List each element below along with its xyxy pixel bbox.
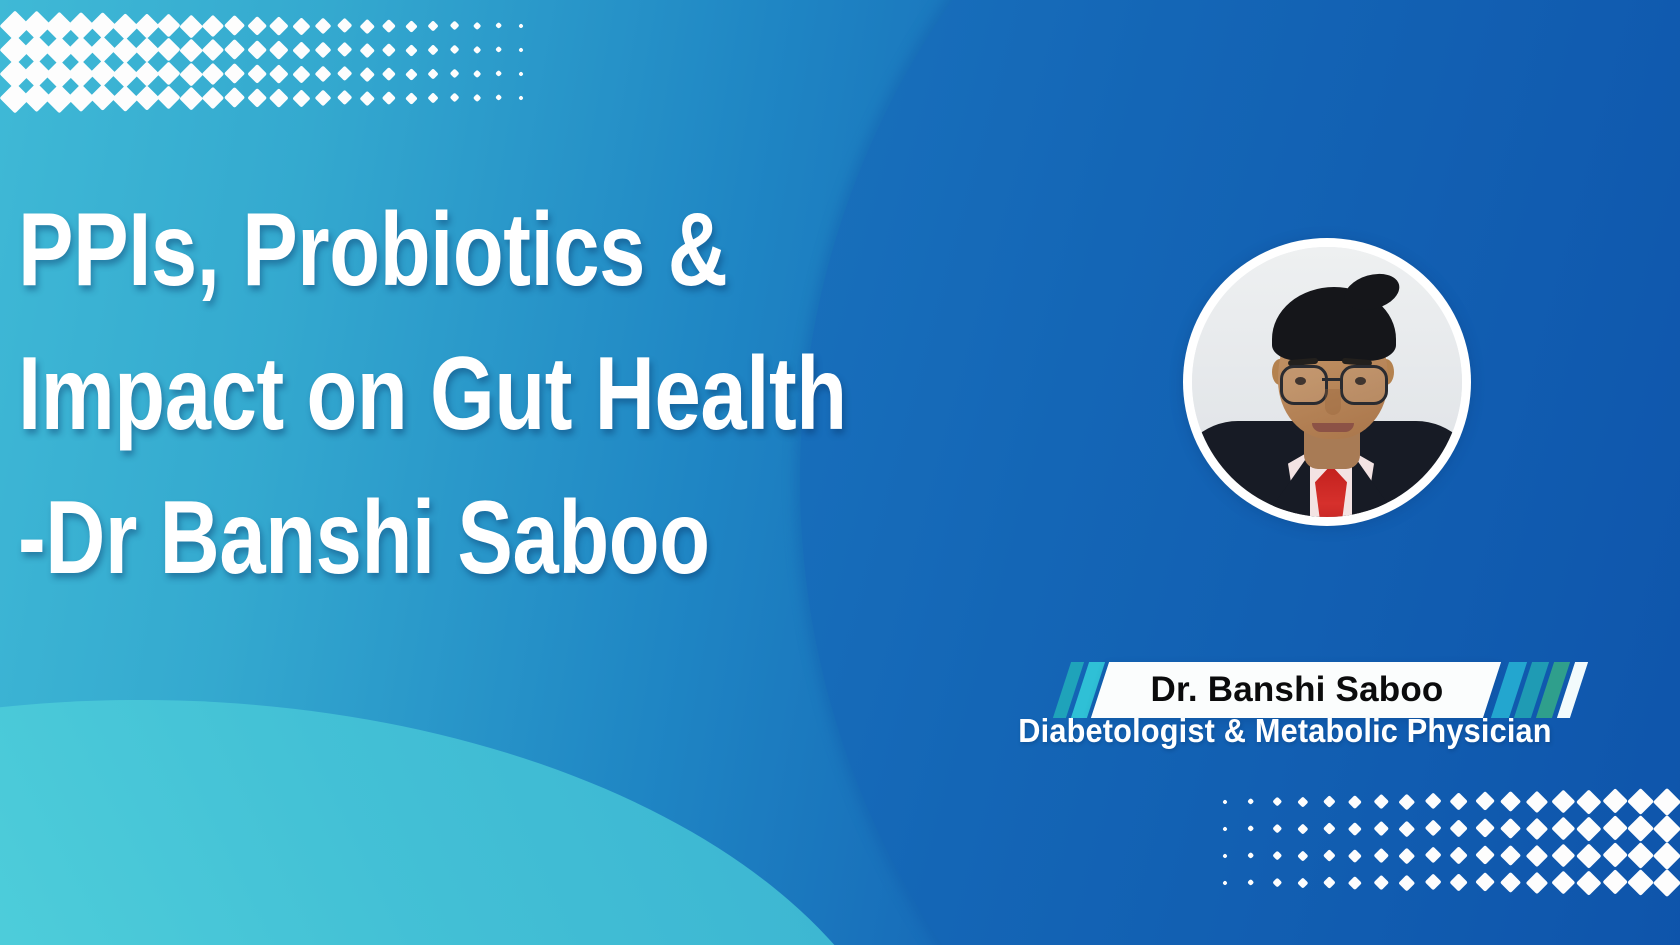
diamond-cell — [378, 38, 400, 62]
diamond-icon — [382, 43, 396, 57]
diamond-icon — [247, 40, 267, 60]
diamond-icon — [1424, 820, 1442, 838]
diamond-cell — [136, 62, 158, 86]
diamond-cell — [466, 86, 488, 110]
diamond-cell — [488, 14, 510, 38]
diamond-icon — [427, 92, 438, 103]
diamond-cell — [1264, 869, 1290, 896]
diamond-icon — [473, 70, 482, 79]
diamond-cell — [268, 14, 290, 38]
diamond-grid-icon-bottom-right — [1212, 788, 1680, 896]
diamond-icon — [1577, 843, 1602, 868]
diamond-icon — [157, 38, 181, 62]
diamond-cell — [1628, 788, 1654, 815]
slide-canvas: PPIs, Probiotics & Impact on Gut Health … — [0, 0, 1680, 945]
diamond-icon — [1653, 841, 1680, 869]
diamond-icon — [1222, 880, 1228, 886]
eyeglasses-lens-right — [1340, 365, 1388, 405]
diamond-icon — [1298, 796, 1309, 807]
diamond-cell — [70, 38, 92, 62]
diamond-icon — [450, 21, 460, 31]
diamond-icon — [382, 91, 396, 105]
diamond-icon — [427, 68, 438, 79]
diamond-cell — [1264, 788, 1290, 815]
diamond-cell — [1654, 842, 1680, 869]
diamond-icon — [1399, 820, 1415, 836]
diamond-cell — [510, 38, 532, 62]
diamond-icon — [247, 64, 267, 84]
diamond-cell — [136, 86, 158, 110]
diamond-icon — [1298, 823, 1309, 834]
diamond-cell — [1602, 815, 1628, 842]
diamond-cell — [400, 86, 422, 110]
diamond-cell — [1394, 815, 1420, 842]
diamond-icon — [1450, 792, 1469, 811]
diamond-cell — [1472, 842, 1498, 869]
diamond-cell — [510, 14, 532, 38]
diamond-cell — [488, 86, 510, 110]
diamond-cell — [356, 38, 378, 62]
diamond-cell — [1290, 869, 1316, 896]
diamond-cell — [1472, 869, 1498, 896]
diamond-icon — [518, 23, 524, 29]
diamond-icon — [157, 14, 181, 38]
diamond-cell — [202, 86, 224, 110]
diamond-icon — [292, 89, 310, 107]
diamond-icon — [1450, 846, 1469, 865]
diamond-cell — [70, 14, 92, 38]
diamond-icon — [337, 42, 353, 58]
diamond-cell — [224, 86, 246, 110]
diamond-cell — [1446, 842, 1472, 869]
diamond-cell — [1264, 842, 1290, 869]
diamond-icon — [337, 18, 353, 34]
diamond-cell — [466, 62, 488, 86]
diamond-cell — [290, 14, 312, 38]
diamond-icon — [1399, 793, 1415, 809]
diamond-cell — [1446, 815, 1472, 842]
diamond-icon — [1298, 877, 1309, 888]
diamond-icon — [1526, 817, 1548, 839]
diamond-icon — [1500, 818, 1521, 839]
diamond-icon — [405, 92, 418, 105]
diamond-cell — [180, 38, 202, 62]
diamond-icon — [1551, 871, 1575, 895]
diamond-icon — [1399, 847, 1415, 863]
diamond-icon — [269, 88, 288, 107]
diamond-cell — [268, 62, 290, 86]
diamond-icon — [1500, 845, 1521, 866]
diamond-cell — [510, 62, 532, 86]
diamond-icon — [518, 47, 524, 53]
diamond-icon — [1475, 818, 1495, 838]
diamond-icon — [495, 94, 502, 101]
diamond-icon — [1653, 868, 1680, 896]
diamond-icon — [224, 87, 245, 108]
diamond-icon — [179, 14, 202, 37]
diamond-cell — [180, 86, 202, 110]
avatar — [1183, 238, 1471, 526]
diamond-cell — [114, 14, 136, 38]
diamond-icon — [224, 39, 245, 60]
diamond-icon — [1272, 851, 1281, 860]
eyeglasses-bridge — [1322, 378, 1340, 381]
diamond-icon — [202, 39, 224, 61]
background-blob-bottom-left — [0, 700, 920, 945]
diamond-cell — [1524, 788, 1550, 815]
diamond-icon — [405, 20, 418, 33]
diamond-icon — [1526, 790, 1548, 812]
diamond-cell — [1238, 788, 1264, 815]
diamond-cell — [1368, 788, 1394, 815]
diamond-cell — [1420, 869, 1446, 896]
diamond-cell — [246, 62, 268, 86]
diamond-cell — [1394, 842, 1420, 869]
diamond-cell — [1654, 788, 1680, 815]
diamond-cell — [1394, 788, 1420, 815]
diamond-cell — [466, 38, 488, 62]
diamond-cell — [290, 86, 312, 110]
diamond-cell — [158, 14, 180, 38]
diamond-icon — [179, 86, 202, 109]
diamond-icon — [1602, 869, 1628, 895]
diamond-icon — [337, 66, 353, 82]
diamond-cell — [70, 86, 92, 110]
diamond-icon — [495, 22, 502, 29]
diamond-cell — [1446, 788, 1472, 815]
diamond-cell — [400, 62, 422, 86]
diamond-cell — [92, 38, 114, 62]
diamond-cell — [202, 14, 224, 38]
diamond-cell — [1628, 869, 1654, 896]
diamond-cell — [312, 14, 334, 38]
diamond-cell — [356, 14, 378, 38]
diamond-icon — [1551, 844, 1575, 868]
diamond-cell — [488, 38, 510, 62]
diamond-icon — [1424, 793, 1442, 811]
diamond-icon — [314, 89, 331, 106]
diamond-icon — [473, 94, 482, 103]
diamond-icon — [1272, 824, 1281, 833]
diamond-cell — [378, 86, 400, 110]
diamond-cell — [1498, 788, 1524, 815]
diamond-cell — [1212, 788, 1238, 815]
diamond-cell — [334, 86, 356, 110]
diamond-icon — [1475, 872, 1495, 892]
diamond-icon — [157, 86, 181, 110]
diamond-cell — [290, 38, 312, 62]
diamond-cell — [444, 14, 466, 38]
diamond-cell — [312, 62, 334, 86]
diamond-icon — [405, 68, 418, 81]
eyeglasses-lens-left — [1280, 365, 1328, 405]
diamond-icon — [1551, 817, 1575, 841]
diamond-icon — [157, 62, 181, 86]
diamond-cell — [224, 38, 246, 62]
diamond-cell — [1498, 869, 1524, 896]
diamond-cell — [1602, 842, 1628, 869]
diamond-icon — [405, 44, 418, 57]
diamond-cell — [1602, 869, 1628, 896]
diamond-cell — [1602, 788, 1628, 815]
diamond-cell — [422, 38, 444, 62]
diamond-icon — [1653, 814, 1680, 842]
diamond-cell — [400, 38, 422, 62]
diamond-icon — [1577, 816, 1602, 841]
diamond-icon — [1374, 794, 1389, 809]
diamond-cell — [158, 38, 180, 62]
diamond-icon — [269, 40, 288, 59]
diamond-icon — [1500, 872, 1521, 893]
diamond-cell — [1628, 815, 1654, 842]
diamond-icon — [1627, 788, 1654, 815]
diamond-cell — [1394, 869, 1420, 896]
diamond-cell — [1368, 815, 1394, 842]
diamond-icon — [1222, 826, 1228, 832]
diamond-icon — [360, 67, 375, 82]
diamond-cell — [1524, 815, 1550, 842]
diamond-cell — [1576, 842, 1602, 869]
diamond-cell — [180, 14, 202, 38]
diamond-icon — [224, 63, 245, 84]
diamond-cell — [136, 38, 158, 62]
diamond-cell — [1550, 815, 1576, 842]
diamond-icon — [1627, 815, 1654, 842]
diamond-icon — [1577, 870, 1602, 895]
diamond-cell — [1316, 842, 1342, 869]
diamond-icon — [1222, 853, 1228, 859]
diamond-icon — [1602, 842, 1628, 868]
diamond-cell — [444, 38, 466, 62]
diamond-cell — [92, 14, 114, 38]
diamond-cell — [1472, 815, 1498, 842]
diamond-cell — [1316, 788, 1342, 815]
diamond-cell — [1420, 842, 1446, 869]
diamond-icon — [1602, 788, 1628, 814]
diamond-icon — [518, 71, 524, 77]
diamond-icon — [450, 93, 460, 103]
diamond-cell — [510, 86, 532, 110]
diamond-cell — [158, 86, 180, 110]
diamond-cell — [202, 38, 224, 62]
diamond-icon — [292, 41, 310, 59]
diamond-cell — [334, 14, 356, 38]
diamond-cell — [312, 38, 334, 62]
diamond-cell — [400, 14, 422, 38]
diamond-cell — [1654, 869, 1680, 896]
page-title: PPIs, Probiotics & Impact on Gut Health … — [18, 178, 978, 610]
diamond-icon — [518, 95, 524, 101]
diamond-icon — [1551, 790, 1575, 814]
nose-shape — [1325, 389, 1341, 415]
diamond-cell — [1550, 788, 1576, 815]
diamond-icon — [1272, 878, 1281, 887]
diamond-cell — [356, 86, 378, 110]
diamond-cell — [378, 14, 400, 38]
diamond-grid-icon-top-left — [4, 14, 532, 110]
diamond-icon — [1627, 869, 1654, 896]
diamond-icon — [1247, 825, 1255, 833]
diamond-cell — [158, 62, 180, 86]
diamond-cell — [268, 86, 290, 110]
diamond-icon — [360, 43, 375, 58]
diamond-cell — [1420, 815, 1446, 842]
diamond-cell — [1238, 869, 1264, 896]
diamond-cell — [1342, 869, 1368, 896]
diamond-icon — [1526, 844, 1548, 866]
diamond-cell — [334, 62, 356, 86]
diamond-cell — [1524, 842, 1550, 869]
diamond-icon — [1323, 795, 1335, 807]
diamond-icon — [360, 19, 375, 34]
diamond-cell — [114, 38, 136, 62]
diamond-cell — [1654, 815, 1680, 842]
diamond-icon — [314, 41, 331, 58]
diamond-cell — [1368, 842, 1394, 869]
diamond-icon — [247, 88, 267, 108]
diamond-cell — [1472, 788, 1498, 815]
diamond-cell — [1290, 815, 1316, 842]
diamond-icon — [1526, 871, 1548, 893]
diamond-cell — [1212, 869, 1238, 896]
diamond-cell — [246, 38, 268, 62]
diamond-icon — [473, 46, 482, 55]
speaker-credentials: Diabetologist & Metabolic Physician — [1011, 712, 1560, 750]
diamond-icon — [1298, 850, 1309, 861]
diamond-cell — [246, 14, 268, 38]
diamond-cell — [1498, 842, 1524, 869]
diamond-icon — [495, 70, 502, 77]
diamond-cell — [1576, 869, 1602, 896]
diamond-cell — [1550, 869, 1576, 896]
diamond-icon — [134, 13, 159, 38]
diamond-cell — [224, 62, 246, 86]
diamond-icon — [1450, 819, 1469, 838]
diamond-icon — [1374, 821, 1389, 836]
diamond-icon — [427, 44, 438, 55]
diamond-cell — [444, 86, 466, 110]
diamond-cell — [422, 14, 444, 38]
diamond-cell — [70, 62, 92, 86]
diamond-icon — [337, 90, 353, 106]
diamond-icon — [202, 15, 224, 37]
diamond-icon — [1450, 873, 1469, 892]
title-line-3: -Dr Banshi Saboo — [18, 466, 786, 610]
diamond-icon — [134, 37, 159, 62]
diamond-cell — [246, 86, 268, 110]
diamond-icon — [314, 17, 331, 34]
diamond-icon — [1475, 791, 1495, 811]
diamond-cell — [1628, 842, 1654, 869]
diamond-cell — [92, 86, 114, 110]
diamond-cell — [1446, 869, 1472, 896]
diamond-icon — [1272, 797, 1281, 806]
diamond-cell — [1212, 842, 1238, 869]
speaker-name-banner: Dr. Banshi Saboo — [1056, 662, 1588, 718]
diamond-cell — [1368, 869, 1394, 896]
diamond-icon — [247, 16, 267, 36]
diamond-cell — [1576, 815, 1602, 842]
diamond-icon — [179, 62, 202, 85]
diamond-icon — [450, 45, 460, 55]
diamond-icon — [314, 65, 331, 82]
diamond-cell — [180, 62, 202, 86]
diamond-cell — [202, 62, 224, 86]
diamond-cell — [114, 62, 136, 86]
diamond-cell — [1238, 815, 1264, 842]
diamond-cell — [1238, 842, 1264, 869]
mouth-shape — [1312, 423, 1354, 432]
avatar-photo — [1192, 247, 1462, 517]
title-line-2: Impact on Gut Health — [18, 322, 786, 466]
diamond-cell — [1342, 815, 1368, 842]
diamond-cell — [268, 38, 290, 62]
diamond-icon — [134, 61, 159, 86]
diamond-icon — [1602, 815, 1628, 841]
diamond-cell — [1550, 842, 1576, 869]
diamond-icon — [1348, 876, 1362, 890]
speaker-name: Dr. Banshi Saboo — [1108, 662, 1486, 718]
diamond-cell — [92, 62, 114, 86]
diamond-cell — [1316, 869, 1342, 896]
diamond-cell — [1290, 842, 1316, 869]
diamond-icon — [1653, 787, 1680, 815]
diamond-icon — [269, 16, 288, 35]
title-line-1: PPIs, Probiotics & — [18, 178, 786, 322]
diamond-cell — [114, 86, 136, 110]
diamond-cell — [1290, 788, 1316, 815]
diamond-icon — [1323, 822, 1335, 834]
diamond-icon — [202, 87, 224, 109]
diamond-cell — [334, 38, 356, 62]
diamond-cell — [1264, 815, 1290, 842]
diamond-icon — [427, 20, 438, 31]
diamond-icon — [269, 64, 288, 83]
diamond-icon — [1475, 845, 1495, 865]
diamond-icon — [1424, 847, 1442, 865]
diamond-icon — [450, 69, 460, 79]
diamond-icon — [224, 15, 245, 36]
diamond-cell — [422, 86, 444, 110]
diamond-icon — [1247, 798, 1255, 806]
diamond-cell — [1342, 788, 1368, 815]
diamond-cell — [1498, 815, 1524, 842]
diamond-cell — [1420, 788, 1446, 815]
diamond-cell — [1524, 869, 1550, 896]
diamond-icon — [1577, 789, 1602, 814]
diamond-icon — [1399, 874, 1415, 890]
diamond-cell — [136, 14, 158, 38]
diamond-icon — [202, 63, 224, 85]
diamond-cell — [224, 14, 246, 38]
diamond-icon — [1323, 876, 1335, 888]
diamond-icon — [382, 67, 396, 81]
diamond-cell — [1342, 842, 1368, 869]
diamond-icon — [292, 65, 310, 83]
diamond-cell — [378, 62, 400, 86]
diamond-icon — [1627, 842, 1654, 869]
diamond-cell — [1316, 815, 1342, 842]
diamond-cell — [444, 62, 466, 86]
diamond-icon — [360, 91, 375, 106]
diamond-icon — [1348, 822, 1362, 836]
diamond-icon — [179, 38, 202, 61]
diamond-cell — [356, 62, 378, 86]
diamond-icon — [1222, 799, 1228, 805]
diamond-icon — [1348, 849, 1362, 863]
diamond-cell — [488, 62, 510, 86]
diamond-icon — [1323, 849, 1335, 861]
